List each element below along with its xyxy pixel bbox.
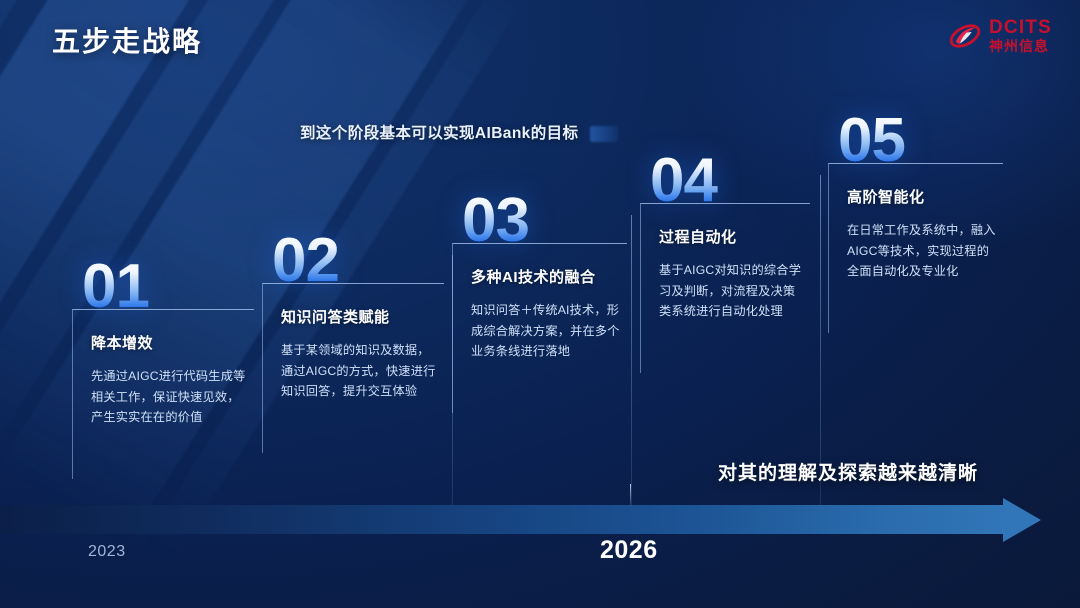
annotation-text: 到这个阶段基本可以实现AIBank的目标 [300, 121, 578, 143]
step-number: 03 [462, 192, 634, 249]
timeline-caption: 对其的理解及探索越来越清晰 [718, 458, 978, 485]
step-number: 05 [838, 112, 1010, 169]
step-description: 在日常工作及系统中，融入AIGC等技术，实现过程的全面自动化及专业化 [847, 220, 997, 282]
step-card-04[interactable]: 04 过程自动化 基于AIGC对知识的综合学习及判断，对流程及决策类系统进行自动… [640, 152, 822, 373]
step-card-03[interactable]: 03 多种AI技术的融合 知识问答＋传统AI技术，形成综合解决方案，并在多个业务… [452, 192, 634, 413]
step-body: 高阶智能化 在日常工作及系统中，融入AIGC等技术，实现过程的全面自动化及专业化 [828, 163, 1003, 333]
step-card-02[interactable]: 02 知识问答类赋能 基于某领域的知识及数据，通过AIGC的方式，快速进行知识回… [262, 232, 444, 453]
step-title: 知识问答类赋能 [281, 306, 438, 327]
step-body: 降本增效 先通过AIGC进行代码生成等相关工作，保证快速见效，产生实实在在的价值 [72, 309, 254, 479]
logo-en: DCITS [989, 18, 1052, 37]
timeline-bar [0, 505, 1008, 534]
step-description: 基于某领域的知识及数据，通过AIGC的方式，快速进行知识回答，提升交互体验 [281, 340, 438, 402]
annotation-chip [590, 126, 618, 142]
step-title: 高阶智能化 [847, 186, 997, 207]
brand-logo: DCITS 神州信息 [948, 18, 1052, 53]
step-number: 02 [272, 232, 444, 289]
step-card-05[interactable]: 05 高阶智能化 在日常工作及系统中，融入AIGC等技术，实现过程的全面自动化及… [828, 112, 1010, 333]
step-card-01[interactable]: 01 降本增效 先通过AIGC进行代码生成等相关工作，保证快速见效，产生实实在在… [72, 258, 254, 479]
step-title: 降本增效 [91, 332, 248, 353]
step-description: 先通过AIGC进行代码生成等相关工作，保证快速见效，产生实实在在的价值 [91, 366, 248, 428]
page-title: 五步走战略 [52, 20, 202, 60]
slide-root: 五步走战略 DCITS 神州信息 到这个阶段基本可以实现AIBank的目标 01… [0, 0, 1080, 608]
step-number: 01 [82, 258, 254, 315]
step-title: 过程自动化 [659, 226, 804, 247]
swirl-icon [948, 21, 982, 51]
timeline-arrow [0, 498, 1080, 542]
step-body: 过程自动化 基于AIGC对知识的综合学习及判断，对流程及决策类系统进行自动化处理 [640, 203, 810, 373]
step-body: 多种AI技术的融合 知识问答＋传统AI技术，形成综合解决方案，并在多个业务条线进… [452, 243, 627, 413]
logo-cn: 神州信息 [989, 39, 1052, 53]
step-description: 知识问答＋传统AI技术，形成综合解决方案，并在多个业务条线进行落地 [471, 300, 621, 362]
timeline-tick [630, 484, 631, 508]
timeline-arrowhead-icon [1003, 498, 1041, 542]
timeline-year-start: 2023 [88, 543, 126, 561]
step-description: 基于AIGC对知识的综合学习及判断，对流程及决策类系统进行自动化处理 [659, 260, 804, 322]
step-body: 知识问答类赋能 基于某领域的知识及数据，通过AIGC的方式，快速进行知识回答，提… [262, 283, 444, 453]
step-title: 多种AI技术的融合 [471, 266, 621, 287]
step-number: 04 [650, 152, 822, 209]
timeline-year-end: 2026 [600, 536, 658, 565]
logo-text-block: DCITS 神州信息 [989, 18, 1052, 53]
